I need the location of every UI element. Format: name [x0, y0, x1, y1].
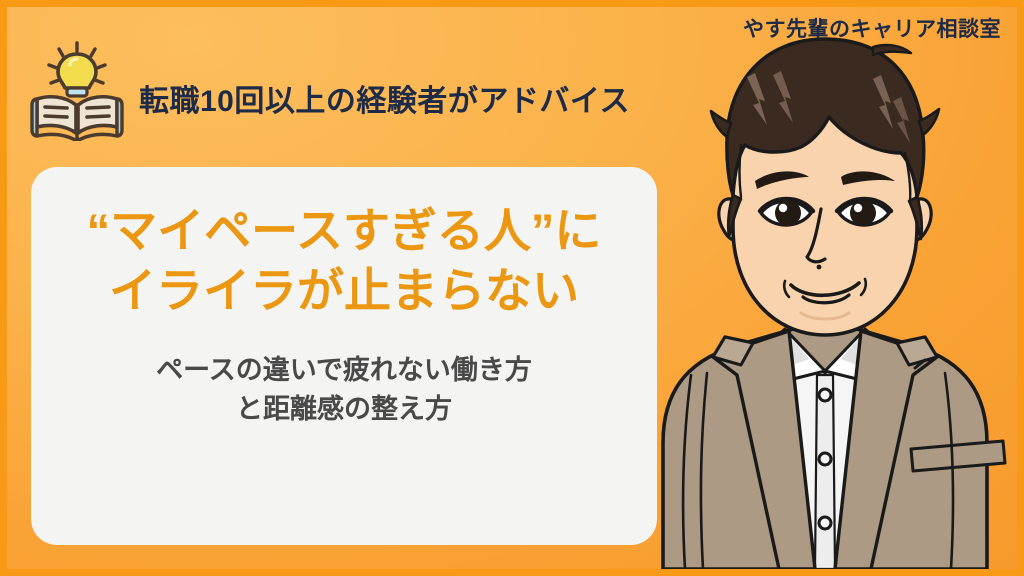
headline: “マイペースすぎる人”に イライラが止まらない — [87, 201, 602, 321]
subtitle-line-1: ペースの違いで疲れない働き方 — [156, 351, 532, 389]
headline-line-1: “マイペースすぎる人”に — [87, 201, 602, 261]
subtitle-line-2: と距離感の整え方 — [156, 390, 532, 428]
open-book-with-lightbulb-icon — [29, 35, 125, 141]
thumbnail-canvas: やす先輩のキャリア相談室 — [0, 0, 1024, 576]
channel-name-label: やす先輩のキャリア相談室 — [743, 13, 1001, 43]
content-card: “マイペースすぎる人”に イライラが止まらない ペースの違いで疲れない働き方 と… — [31, 167, 657, 545]
badge-text-label: 転職10回以上の経験者がアドバイス — [139, 76, 630, 120]
headline-line-2: イライラが止まらない — [87, 261, 602, 321]
subtitle: ペースの違いで疲れない働き方 と距離感の整え方 — [156, 351, 532, 428]
smiling-businessman-illustration — [633, 13, 1017, 569]
badge-row: 転職10回以上の経験者がアドバイス — [29, 35, 630, 141]
